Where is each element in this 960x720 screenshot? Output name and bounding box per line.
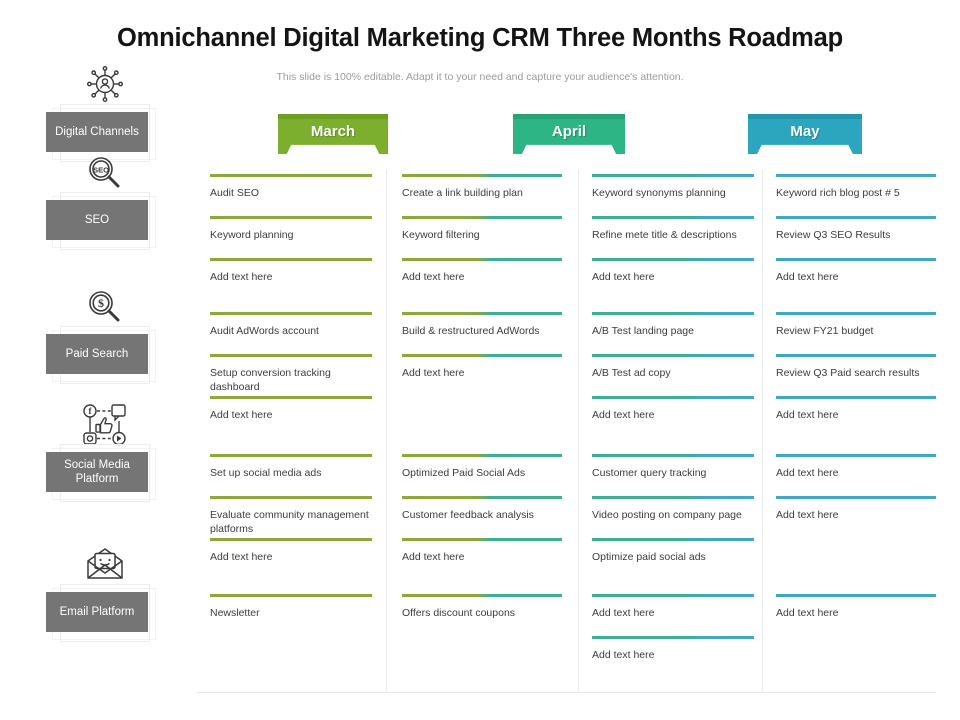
task-item[interactable]: Add text here xyxy=(210,396,372,422)
task-label: Evaluate community management platforms xyxy=(210,508,372,536)
task-item[interactable]: Optimized Paid Social Ads xyxy=(402,454,562,480)
task-item[interactable]: Audit SEO xyxy=(210,174,372,200)
sidebar-item-label: Paid Search xyxy=(46,334,148,374)
task-label: Add text here xyxy=(776,270,936,284)
task-label: Add text here xyxy=(210,550,372,564)
task-accent-bar xyxy=(776,174,936,177)
task-label: Add text here xyxy=(776,508,936,522)
month-banner-body: April xyxy=(513,119,625,154)
task-item[interactable]: Add text here xyxy=(210,258,372,284)
task-accent-bar xyxy=(592,216,754,219)
task-accent-bar xyxy=(776,312,936,315)
seo-magnifier-icon: SEO xyxy=(46,148,164,196)
task-accent-bar xyxy=(210,312,372,315)
month-banner-cap xyxy=(513,114,625,119)
task-label: Add text here xyxy=(776,606,936,620)
task-label: Keyword planning xyxy=(210,228,372,242)
task-label: Add text here xyxy=(592,606,754,620)
task-label: Review Q3 Paid search results xyxy=(776,366,936,380)
task-item[interactable]: Add text here xyxy=(776,258,936,284)
task-label: Offers discount coupons xyxy=(402,606,562,620)
task-item[interactable]: Setup conversion tracking dashboard xyxy=(210,354,372,394)
task-label: Audit AdWords account xyxy=(210,324,372,338)
task-label: Add text here xyxy=(402,366,562,380)
month-banner-body: May xyxy=(748,119,862,154)
sidebar-item-plate: SEO xyxy=(46,200,164,244)
sidebar-item-plate: Email Platform xyxy=(46,592,164,636)
task-label: Review Q3 SEO Results xyxy=(776,228,936,242)
task-item[interactable]: Add text here xyxy=(592,396,754,422)
month-banner-body: March xyxy=(278,119,388,154)
task-label: Keyword synonyms planning xyxy=(592,186,754,200)
task-item[interactable]: Optimize paid social ads xyxy=(592,538,754,564)
task-label: Review FY21 budget xyxy=(776,324,936,338)
month-banner-cap xyxy=(278,114,388,119)
task-item[interactable]: Add text here xyxy=(776,396,936,422)
task-label: A/B Test landing page xyxy=(592,324,754,338)
task-label: Add text here xyxy=(210,270,372,284)
task-label: Add text here xyxy=(592,270,754,284)
task-label: Customer feedback analysis xyxy=(402,508,562,522)
task-accent-bar xyxy=(776,396,936,399)
task-item[interactable]: Add text here xyxy=(592,258,754,284)
task-accent-bar xyxy=(592,496,754,499)
task-item[interactable]: Newsletter xyxy=(210,594,372,620)
task-accent-bar xyxy=(210,594,372,597)
sidebar-item-social-media-platform[interactable]: fSocial Media Platform xyxy=(46,400,164,496)
digital-channels-network-icon xyxy=(46,60,164,108)
task-accent-bar xyxy=(776,258,936,261)
sidebar-item-seo[interactable]: SEOSEO xyxy=(46,148,164,244)
task-accent-bar xyxy=(210,258,372,261)
task-label: Customer query tracking xyxy=(592,466,754,480)
paid-search-dollar-magnifier-icon: $ xyxy=(46,282,164,330)
task-label: Keyword filtering xyxy=(402,228,562,242)
month-banner-label: April xyxy=(552,123,586,140)
task-item[interactable]: Video posting on company page xyxy=(592,496,754,522)
task-label: Setup conversion tracking dashboard xyxy=(210,366,372,394)
task-label: A/B Test ad copy xyxy=(592,366,754,380)
task-label: Build & restructured AdWords xyxy=(402,324,562,338)
task-accent-bar xyxy=(776,496,936,499)
task-accent-bar xyxy=(402,174,562,177)
svg-text:f: f xyxy=(89,406,93,416)
task-label: Optimized Paid Social Ads xyxy=(402,466,562,480)
task-label: Add text here xyxy=(776,408,936,422)
column-divider xyxy=(762,170,763,692)
month-banner-label: March xyxy=(311,123,355,140)
task-accent-bar xyxy=(776,216,936,219)
sidebar-item-label: Social Media Platform xyxy=(46,452,148,492)
task-item[interactable]: A/B Test landing page xyxy=(592,312,754,338)
column-divider xyxy=(578,170,579,692)
sidebar-item-label: SEO xyxy=(46,200,148,240)
task-accent-bar xyxy=(592,636,754,639)
task-label: Keyword rich blog post # 5 xyxy=(776,186,936,200)
task-accent-bar xyxy=(776,354,936,357)
task-accent-bar xyxy=(402,312,562,315)
task-accent-bar xyxy=(592,594,754,597)
email-platform-envelope-icon xyxy=(46,540,164,588)
task-item[interactable]: Customer query tracking xyxy=(592,454,754,480)
task-item[interactable]: Add text here xyxy=(592,636,754,662)
sidebar-item-plate: Paid Search xyxy=(46,334,164,378)
task-label: Add text here xyxy=(776,466,936,480)
task-accent-bar xyxy=(402,538,562,541)
task-accent-bar xyxy=(402,354,562,357)
roadmap-grid: Audit SEOKeyword planningAdd text hereCr… xyxy=(196,170,934,694)
sidebar-item-label: Digital Channels xyxy=(46,112,148,152)
month-banner-may[interactable]: May xyxy=(748,114,862,154)
task-item[interactable]: Evaluate community management platforms xyxy=(210,496,372,536)
task-accent-bar xyxy=(592,258,754,261)
task-item[interactable]: Audit AdWords account xyxy=(210,312,372,338)
task-accent-bar xyxy=(210,396,372,399)
grid-bottom-rule xyxy=(196,692,936,693)
task-item[interactable]: Keyword planning xyxy=(210,216,372,242)
task-accent-bar xyxy=(402,258,562,261)
task-item[interactable]: Set up social media ads xyxy=(210,454,372,480)
task-item[interactable]: Review Q3 Paid search results xyxy=(776,354,936,380)
task-item[interactable]: Review FY21 budget xyxy=(776,312,936,338)
task-accent-bar xyxy=(210,354,372,357)
task-item[interactable]: Add text here xyxy=(402,258,562,284)
task-item[interactable]: Add text here xyxy=(776,454,936,480)
task-item[interactable]: Keyword rich blog post # 5 xyxy=(776,174,936,200)
task-item[interactable]: Add text here xyxy=(402,354,562,380)
task-label: Create a link building plan xyxy=(402,186,562,200)
month-banner-april[interactable]: April xyxy=(513,114,625,154)
sidebar-item-plate: Social Media Platform xyxy=(46,452,164,496)
task-item[interactable]: Add text here xyxy=(402,538,562,564)
task-label: Add text here xyxy=(402,550,562,564)
task-accent-bar xyxy=(776,454,936,457)
task-item[interactable]: Keyword synonyms planning xyxy=(592,174,754,200)
task-item[interactable]: Keyword filtering xyxy=(402,216,562,242)
task-label: Newsletter xyxy=(210,606,372,620)
month-banner-march[interactable]: March xyxy=(278,114,388,154)
task-label: Audit SEO xyxy=(210,186,372,200)
task-accent-bar xyxy=(592,174,754,177)
task-accent-bar xyxy=(592,354,754,357)
task-label: Add text here xyxy=(592,648,754,662)
sidebar-item-digital-channels[interactable]: Digital Channels xyxy=(46,60,164,156)
social-media-platform-icon: f xyxy=(46,400,164,448)
month-banner-label: May xyxy=(790,123,819,140)
task-label: Set up social media ads xyxy=(210,466,372,480)
task-item[interactable]: Review Q3 SEO Results xyxy=(776,216,936,242)
task-item[interactable]: Refine mete title & descriptions xyxy=(592,216,754,242)
task-accent-bar xyxy=(592,454,754,457)
task-accent-bar xyxy=(592,396,754,399)
task-item[interactable]: Build & restructured AdWords xyxy=(402,312,562,338)
task-label: Video posting on company page xyxy=(592,508,754,522)
task-accent-bar xyxy=(402,216,562,219)
task-accent-bar xyxy=(402,454,562,457)
sidebar-item-label: Email Platform xyxy=(46,592,148,632)
task-accent-bar xyxy=(210,538,372,541)
page-title: Omnichannel Digital Marketing CRM Three … xyxy=(0,24,960,53)
task-accent-bar xyxy=(210,496,372,499)
task-accent-bar xyxy=(402,496,562,499)
task-label: Optimize paid social ads xyxy=(592,550,754,564)
column-divider xyxy=(386,170,387,692)
sidebar-item-email-platform[interactable]: Email Platform xyxy=(46,540,164,636)
task-item[interactable]: Offers discount coupons xyxy=(402,594,562,620)
sidebar-item-paid-search[interactable]: $Paid Search xyxy=(46,282,164,378)
task-item[interactable]: Add text here xyxy=(210,538,372,564)
task-accent-bar xyxy=(210,216,372,219)
task-item[interactable]: A/B Test ad copy xyxy=(592,354,754,380)
task-accent-bar xyxy=(402,594,562,597)
task-accent-bar xyxy=(592,312,754,315)
svg-text:$: $ xyxy=(98,296,104,310)
task-label: Add text here xyxy=(402,270,562,284)
month-banner-cap xyxy=(748,114,862,119)
task-item[interactable]: Add text here xyxy=(776,594,936,620)
task-accent-bar xyxy=(210,174,372,177)
task-item[interactable]: Add text here xyxy=(776,496,936,522)
task-label: Refine mete title & descriptions xyxy=(592,228,754,242)
task-accent-bar xyxy=(776,594,936,597)
task-accent-bar xyxy=(210,454,372,457)
task-accent-bar xyxy=(592,538,754,541)
sidebar: Digital Channels SEOSEO $Paid Search xyxy=(46,60,164,700)
svg-text:SEO: SEO xyxy=(93,166,109,175)
task-item[interactable]: Create a link building plan xyxy=(402,174,562,200)
task-item[interactable]: Customer feedback analysis xyxy=(402,496,562,522)
task-label: Add text here xyxy=(592,408,754,422)
task-label: Add text here xyxy=(210,408,372,422)
task-item[interactable]: Add text here xyxy=(592,594,754,620)
